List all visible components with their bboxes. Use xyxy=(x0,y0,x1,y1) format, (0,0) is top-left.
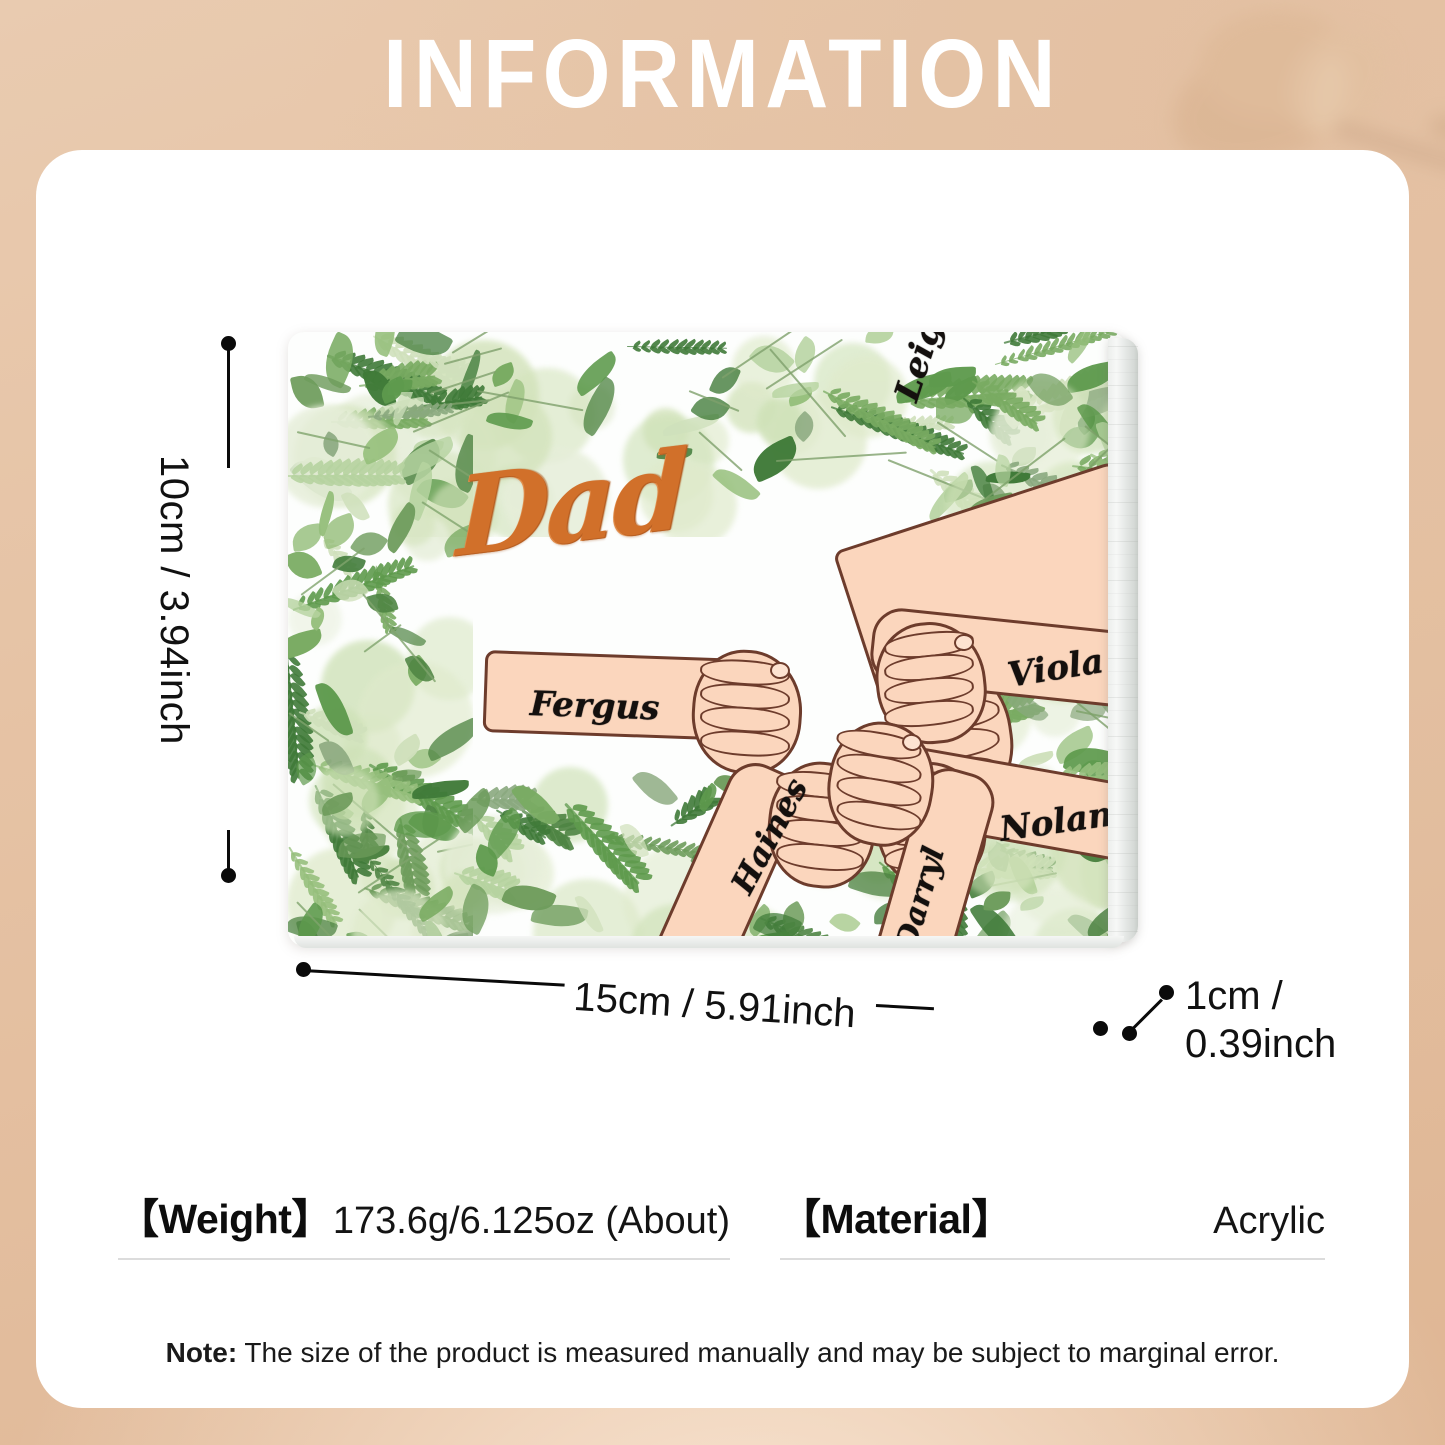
material-value: Acrylic xyxy=(1213,1200,1325,1243)
product-image: Dad Fergus Leighton Viola Nolan Haines D… xyxy=(288,332,1148,952)
plaque-thickness-edge xyxy=(1108,338,1138,942)
spec-weight: 【Weight】 173.6g/6.125oz (About) xyxy=(118,1185,730,1285)
material-divider xyxy=(780,1258,1325,1260)
note-text: Note: The size of the product is measure… xyxy=(0,1337,1445,1369)
note-prefix: Note: xyxy=(166,1337,238,1368)
page-title: INFORMATION xyxy=(72,22,1373,126)
note-body: The size of the product is measured manu… xyxy=(237,1337,1279,1368)
weight-divider xyxy=(118,1258,730,1260)
hands-illustration xyxy=(288,332,1126,946)
weight-value: 173.6g/6.125oz (About) xyxy=(333,1200,730,1243)
plaque-bottom-edge xyxy=(294,936,1124,948)
weight-label: 【Weight】 xyxy=(118,1185,332,1245)
material-label: 【Material】 xyxy=(780,1185,1012,1245)
thickness-line-2: 0.39inch xyxy=(1185,1020,1336,1068)
thickness-line-1: 1cm / xyxy=(1185,972,1336,1020)
spec-material: 【Material】 Acrylic xyxy=(780,1185,1325,1285)
dimension-height-label: 10cm / 3.94inch xyxy=(151,455,196,785)
spec-table: 【Weight】 173.6g/6.125oz (About) 【Materia… xyxy=(0,1185,1445,1295)
name-label-fergus: Fergus xyxy=(529,684,660,728)
dimension-thickness-label: 1cm / 0.39inch xyxy=(1185,972,1336,1068)
acrylic-plaque: Dad Fergus Leighton Viola Nolan Haines D… xyxy=(288,332,1126,946)
